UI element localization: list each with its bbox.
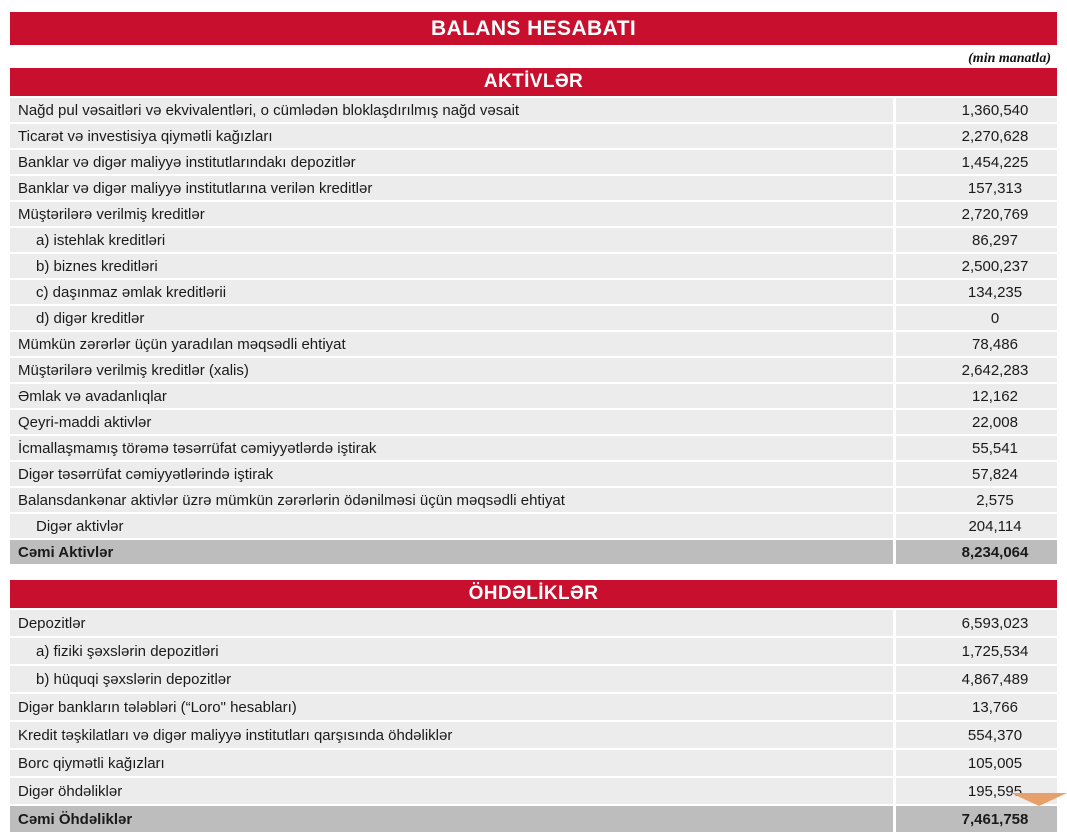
table-row: Banklar və digər maliyyə institutlarında… <box>10 150 1057 174</box>
row-label: Banklar və digər maliyyə institutlarına … <box>10 176 896 200</box>
row-value: 22,008 <box>941 410 1057 434</box>
assets-table: Nağd pul vəsaitləri və ekvivalentləri, o… <box>10 96 1057 566</box>
row-value: 8,234,064 <box>941 540 1057 564</box>
row-value: 157,313 <box>941 176 1057 200</box>
row-value: 12,162 <box>941 384 1057 408</box>
row-spacer-cell <box>896 202 941 226</box>
row-spacer-cell <box>896 332 941 356</box>
row-spacer-cell <box>896 666 941 692</box>
row-spacer-cell <box>896 410 941 434</box>
row-spacer-cell <box>896 694 941 720</box>
table-row: Banklar və digər maliyyə institutlarına … <box>10 176 1057 200</box>
balance-sheet-document: BALANS HESABATI (min manatla) AKTİVLƏR N… <box>0 12 1067 834</box>
row-value: 2,270,628 <box>941 124 1057 148</box>
row-value: 78,486 <box>941 332 1057 356</box>
row-label: Digər aktivlər <box>10 514 896 538</box>
row-label: Müştərilərə verilmiş kreditlər (xalis) <box>10 358 896 382</box>
row-spacer-cell <box>896 98 941 122</box>
table-row: Əmlak və avadanlıqlar12,162 <box>10 384 1057 408</box>
table-row: İcmallaşmamış törəmə təsərrüfat cəmiyyət… <box>10 436 1057 460</box>
row-label: b) biznes kreditləri <box>10 254 896 278</box>
table-row: Müştərilərə verilmiş kreditlər (xalis)2,… <box>10 358 1057 382</box>
row-value: 4,867,489 <box>941 666 1057 692</box>
table-row: Qeyri-maddi aktivlər22,008 <box>10 410 1057 434</box>
row-label: Müştərilərə verilmiş kreditlər <box>10 202 896 226</box>
table-row: Digər aktivlər204,114 <box>10 514 1057 538</box>
section-spacer <box>0 566 1067 580</box>
row-value: 2,500,237 <box>941 254 1057 278</box>
row-value: 2,720,769 <box>941 202 1057 226</box>
row-spacer-cell <box>896 150 941 174</box>
row-label: Balansdankənar aktivlər üzrə mümkün zərə… <box>10 488 896 512</box>
table-row: b) biznes kreditləri2,500,237 <box>10 254 1057 278</box>
row-spacer-cell <box>896 638 941 664</box>
row-value: 1,360,540 <box>941 98 1057 122</box>
row-label: a) fiziki şəxslərin depozitləri <box>10 638 896 664</box>
table-row: Nağd pul vəsaitləri və ekvivalentləri, o… <box>10 98 1057 122</box>
table-row: a) fiziki şəxslərin depozitləri1,725,534 <box>10 638 1057 664</box>
liabilities-table-body: Depozitlər6,593,023a) fiziki şəxslərin d… <box>10 610 1057 832</box>
row-spacer-cell <box>896 124 941 148</box>
row-label: İcmallaşmamış törəmə təsərrüfat cəmiyyət… <box>10 436 896 460</box>
assets-section: AKTİVLƏR Nağd pul vəsaitləri və ekvivale… <box>0 68 1067 566</box>
row-value: 1,725,534 <box>941 638 1057 664</box>
unit-note: (min manatla) <box>968 52 1051 68</box>
table-row: a) istehlak kreditləri86,297 <box>10 228 1057 252</box>
row-value: 554,370 <box>941 722 1057 748</box>
row-spacer-cell <box>896 806 941 832</box>
row-value: 57,824 <box>941 462 1057 486</box>
row-label: b) hüquqi şəxslərin depozitlər <box>10 666 896 692</box>
row-spacer-cell <box>896 254 941 278</box>
table-row: Digər öhdəliklər195,595 <box>10 778 1057 804</box>
row-value: 2,642,283 <box>941 358 1057 382</box>
row-label: Qeyri-maddi aktivlər <box>10 410 896 434</box>
row-spacer-cell <box>896 358 941 382</box>
row-label: Cəmi Aktivlər <box>10 540 896 564</box>
row-value: 105,005 <box>941 750 1057 776</box>
table-row: Depozitlər6,593,023 <box>10 610 1057 636</box>
row-spacer-cell <box>896 228 941 252</box>
row-spacer-cell <box>896 722 941 748</box>
row-label: Banklar və digər maliyyə institutlarında… <box>10 150 896 174</box>
liabilities-section: ÖHDƏLİKLƏR Depozitlər6,593,023a) fiziki … <box>0 580 1067 834</box>
table-row: Müştərilərə verilmiş kreditlər2,720,769 <box>10 202 1057 226</box>
table-row: Borc qiymətli kağızları105,005 <box>10 750 1057 776</box>
row-spacer-cell <box>896 750 941 776</box>
row-label: a) istehlak kreditləri <box>10 228 896 252</box>
table-row: Balansdankənar aktivlər üzrə mümkün zərə… <box>10 488 1057 512</box>
row-label: Depozitlər <box>10 610 896 636</box>
liabilities-table: Depozitlər6,593,023a) fiziki şəxslərin d… <box>10 608 1057 834</box>
row-spacer-cell <box>896 176 941 200</box>
row-label: Mümkün zərərlər üçün yaradılan məqsədli … <box>10 332 896 356</box>
section-heading-liabilities: ÖHDƏLİKLƏR <box>10 580 1057 608</box>
row-value: 204,114 <box>941 514 1057 538</box>
row-value: 6,593,023 <box>941 610 1057 636</box>
table-row: Digər bankların tələbləri (“Loro" hesabl… <box>10 694 1057 720</box>
row-label: Cəmi Öhdəliklər <box>10 806 896 832</box>
row-value: 55,541 <box>941 436 1057 460</box>
row-spacer-cell <box>896 488 941 512</box>
table-row: Kredit təşkilatları və digər maliyyə ins… <box>10 722 1057 748</box>
row-spacer-cell <box>896 540 941 564</box>
unit-note-row: (min manatla) <box>10 45 1057 68</box>
assets-table-body: Nağd pul vəsaitləri və ekvivalentləri, o… <box>10 98 1057 564</box>
row-value: 7,461,758 <box>941 806 1057 832</box>
table-row: Mümkün zərərlər üçün yaradılan məqsədli … <box>10 332 1057 356</box>
row-spacer-cell <box>896 280 941 304</box>
row-label: Ticarət və investisiya qiymətli kağızlar… <box>10 124 896 148</box>
row-label: Digər təsərrüfat cəmiyyətlərində iştirak <box>10 462 896 486</box>
row-spacer-cell <box>896 514 941 538</box>
row-value: 86,297 <box>941 228 1057 252</box>
row-label: Digər bankların tələbləri (“Loro" hesabl… <box>10 694 896 720</box>
row-value: 0 <box>941 306 1057 330</box>
row-spacer-cell <box>896 610 941 636</box>
table-row: Digər təsərrüfat cəmiyyətlərində iştirak… <box>10 462 1057 486</box>
table-row: d) digər kreditlər0 <box>10 306 1057 330</box>
row-label: Borc qiymətli kağızları <box>10 750 896 776</box>
row-value: 134,235 <box>941 280 1057 304</box>
row-spacer-cell <box>896 306 941 330</box>
row-label: c) daşınmaz əmlak kreditlərii <box>10 280 896 304</box>
row-label: d) digər kreditlər <box>10 306 896 330</box>
row-spacer-cell <box>896 384 941 408</box>
row-spacer-cell <box>896 462 941 486</box>
row-value: 13,766 <box>941 694 1057 720</box>
section-heading-assets: AKTİVLƏR <box>10 68 1057 96</box>
row-spacer-cell <box>896 436 941 460</box>
page-title: BALANS HESABATI <box>10 12 1057 45</box>
row-label: Kredit təşkilatları və digər maliyyə ins… <box>10 722 896 748</box>
corner-artifact <box>1003 789 1067 807</box>
table-row: Ticarət və investisiya qiymətli kağızlar… <box>10 124 1057 148</box>
row-value: 2,575 <box>941 488 1057 512</box>
row-label: Digər öhdəliklər <box>10 778 896 804</box>
assets-total-row: Cəmi Aktivlər8,234,064 <box>10 540 1057 564</box>
row-label: Əmlak və avadanlıqlar <box>10 384 896 408</box>
table-row: c) daşınmaz əmlak kreditlərii134,235 <box>10 280 1057 304</box>
row-spacer-cell <box>896 778 941 804</box>
row-label: Nağd pul vəsaitləri və ekvivalentləri, o… <box>10 98 896 122</box>
table-row: b) hüquqi şəxslərin depozitlər4,867,489 <box>10 666 1057 692</box>
row-value: 1,454,225 <box>941 150 1057 174</box>
liabilities-total-row: Cəmi Öhdəliklər7,461,758 <box>10 806 1057 832</box>
